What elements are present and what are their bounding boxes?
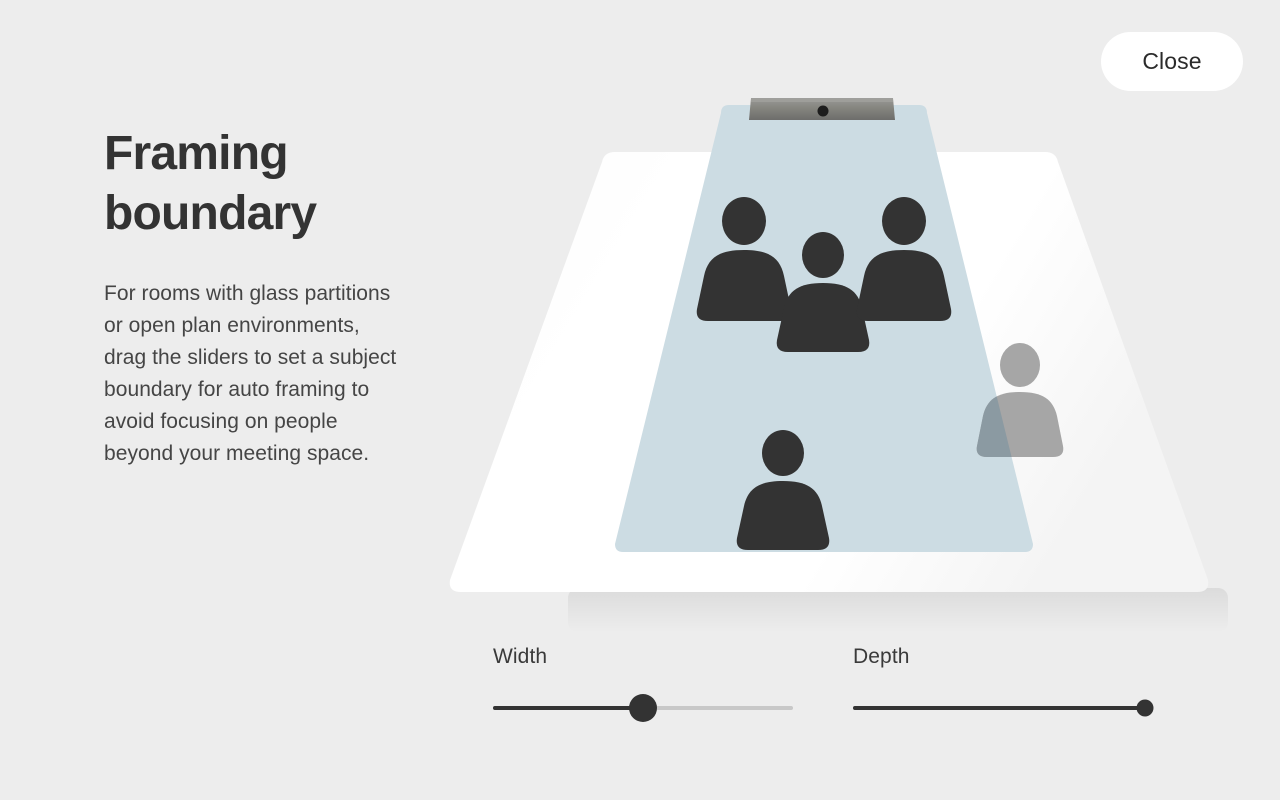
width-slider[interactable]: [493, 694, 793, 722]
page-description: For rooms with glass partitions or open …: [104, 278, 404, 470]
width-slider-group: Width: [493, 645, 793, 722]
width-slider-label: Width: [493, 645, 793, 669]
width-slider-fill: [493, 706, 643, 710]
depth-slider-group: Depth: [853, 645, 1145, 722]
page-title: Framing boundary: [104, 124, 404, 244]
text-panel: Framing boundary For rooms with glass pa…: [104, 124, 404, 470]
room-illustration: [420, 80, 1240, 640]
depth-slider-thumb[interactable]: [1137, 700, 1154, 717]
depth-slider-fill: [853, 706, 1145, 710]
depth-slider[interactable]: [853, 694, 1145, 722]
camera-lens-icon: [818, 106, 829, 117]
camera-soundbar-icon: [749, 98, 895, 120]
floor-shadow: [568, 588, 1228, 632]
depth-slider-label: Depth: [853, 645, 1145, 669]
width-slider-thumb[interactable]: [629, 694, 657, 722]
